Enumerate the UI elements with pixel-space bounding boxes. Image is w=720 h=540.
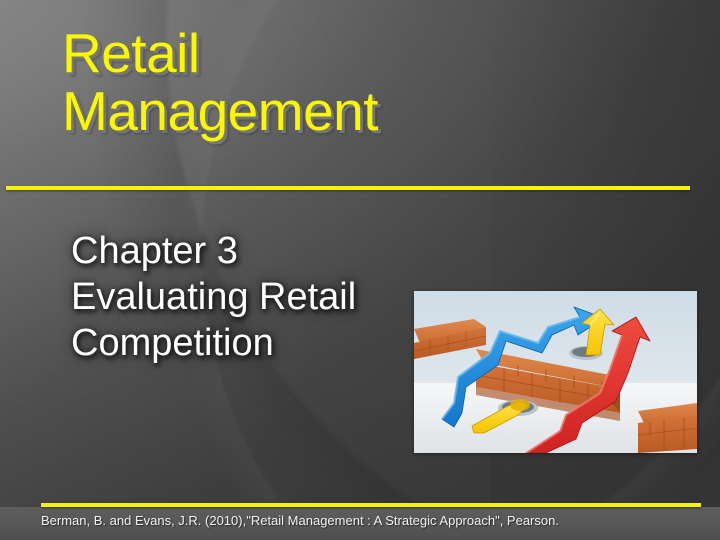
slide-subtitle: Chapter 3 Evaluating Retail Competition [71, 228, 471, 366]
footer-citation: Berman, B. and Evans, J.R. (2010),"Retai… [41, 512, 701, 530]
title-underline-rule [6, 186, 690, 190]
subtitle-line-2: Evaluating Retail [71, 274, 471, 320]
subtitle-line-3: Competition [71, 320, 471, 366]
title-line-2: Management [62, 82, 702, 140]
footer-rule [41, 503, 701, 507]
slide-canvas: Retail Management Chapter 3 Evaluating R… [0, 0, 720, 540]
slide-title: Retail Management [62, 24, 702, 140]
brick-wall-right [638, 403, 697, 453]
subtitle-line-1: Chapter 3 [71, 228, 471, 274]
title-line-1: Retail [62, 24, 702, 82]
